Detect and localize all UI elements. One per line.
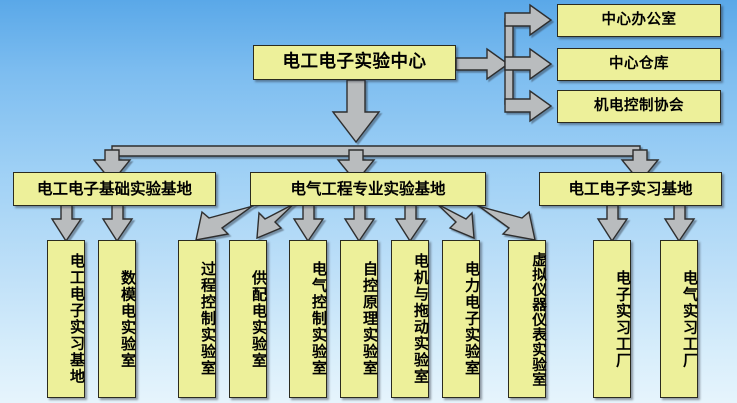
connector-baseleft-to-leaf-1 — [52, 205, 81, 241]
connector-basemid-to-leaf-5 — [294, 205, 323, 241]
node-root[interactable]: 电工电子实验中心 — [253, 45, 456, 80]
node-base-practice-lab[interactable]: 电工电子实习基地 — [539, 172, 722, 206]
connector-basemid-to-leaf-6 — [345, 205, 374, 241]
leaf-motor-drive-lab[interactable]: 电机与拖动实验室 — [391, 240, 429, 398]
node-base-electrical-engineering-lab[interactable]: 电气工程专业实验基地 — [250, 172, 486, 206]
connector-basemid-to-leaf-7 — [396, 205, 425, 241]
leaf-digital-analog-lab[interactable]: 数模电实验室 — [98, 240, 136, 398]
leaf-process-control-lab[interactable]: 过程控制实验室 — [178, 240, 216, 398]
leaf-electronics-practice-factory[interactable]: 电子实习工厂 — [593, 240, 631, 398]
leaf-electrical-practice-factory[interactable]: 电气实习工厂 — [660, 240, 698, 398]
node-center-office[interactable]: 中心办公室 — [557, 4, 721, 37]
node-base-fundamental-lab[interactable]: 电工电子基础实验基地 — [13, 172, 216, 206]
connector-baseright-to-leaf-10 — [598, 205, 627, 241]
connector-baseright-to-leaf-11 — [665, 205, 694, 241]
leaf-power-electronics-lab[interactable]: 电力电子实验室 — [442, 240, 480, 398]
node-center-warehouse[interactable]: 中心仓库 — [557, 48, 721, 81]
connector-root-down-arrow — [333, 80, 379, 142]
leaf-electrical-electronics-practice-base[interactable]: 电工电子实习基地 — [47, 240, 85, 398]
connector-level2-bus — [112, 146, 640, 156]
leaf-electrical-control-lab[interactable]: 电气控制实验室 — [289, 240, 327, 398]
connector-root-to-right-bus — [456, 49, 508, 79]
leaf-power-supply-distribution-lab[interactable]: 供配电实验室 — [229, 240, 267, 398]
leaf-automatic-control-theory-lab[interactable]: 自控原理实验室 — [340, 240, 378, 398]
node-mechatronics-association[interactable]: 机电控制协会 — [557, 90, 721, 123]
leaf-virtual-instrument-lab[interactable]: 虚拟仪器仪表实验室 — [508, 240, 546, 398]
diagram-canvas: 电工电子实验中心 中心办公室 中心仓库 机电控制协会 电工电子基础实验基地 电气… — [0, 0, 737, 403]
connector-baseleft-to-leaf-2 — [103, 205, 132, 241]
